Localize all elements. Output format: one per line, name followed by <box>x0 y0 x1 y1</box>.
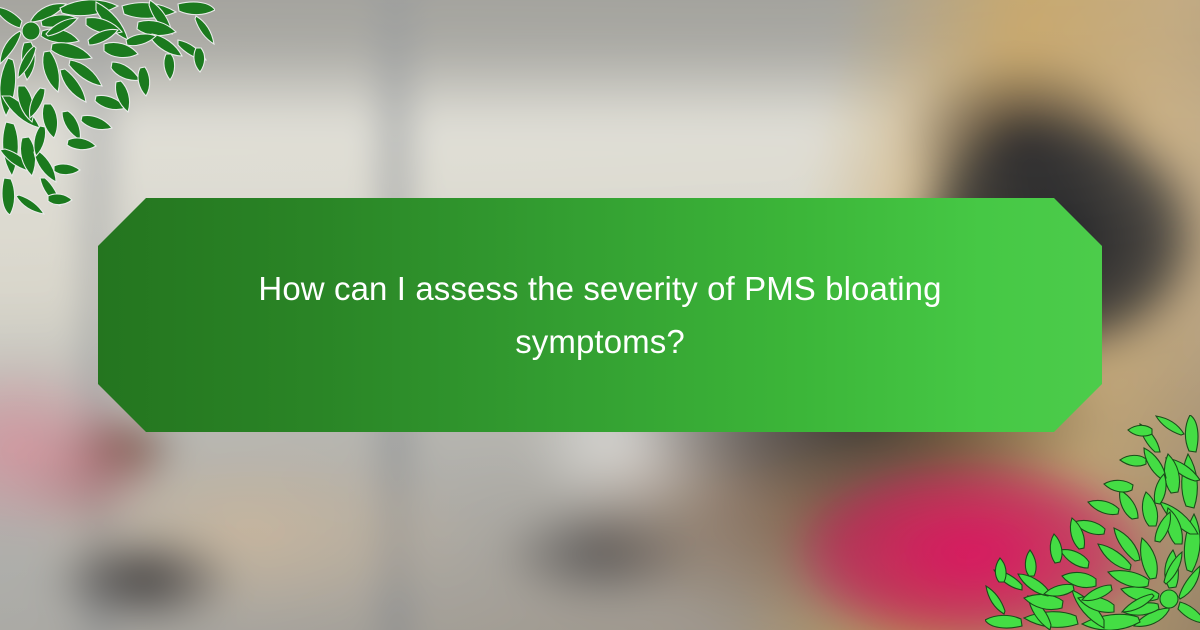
page-title: How can I assess the severity of PMS blo… <box>200 262 1000 368</box>
share-card: How can I assess the severity of PMS blo… <box>0 0 1200 630</box>
question-banner: How can I assess the severity of PMS blo… <box>98 198 1102 432</box>
